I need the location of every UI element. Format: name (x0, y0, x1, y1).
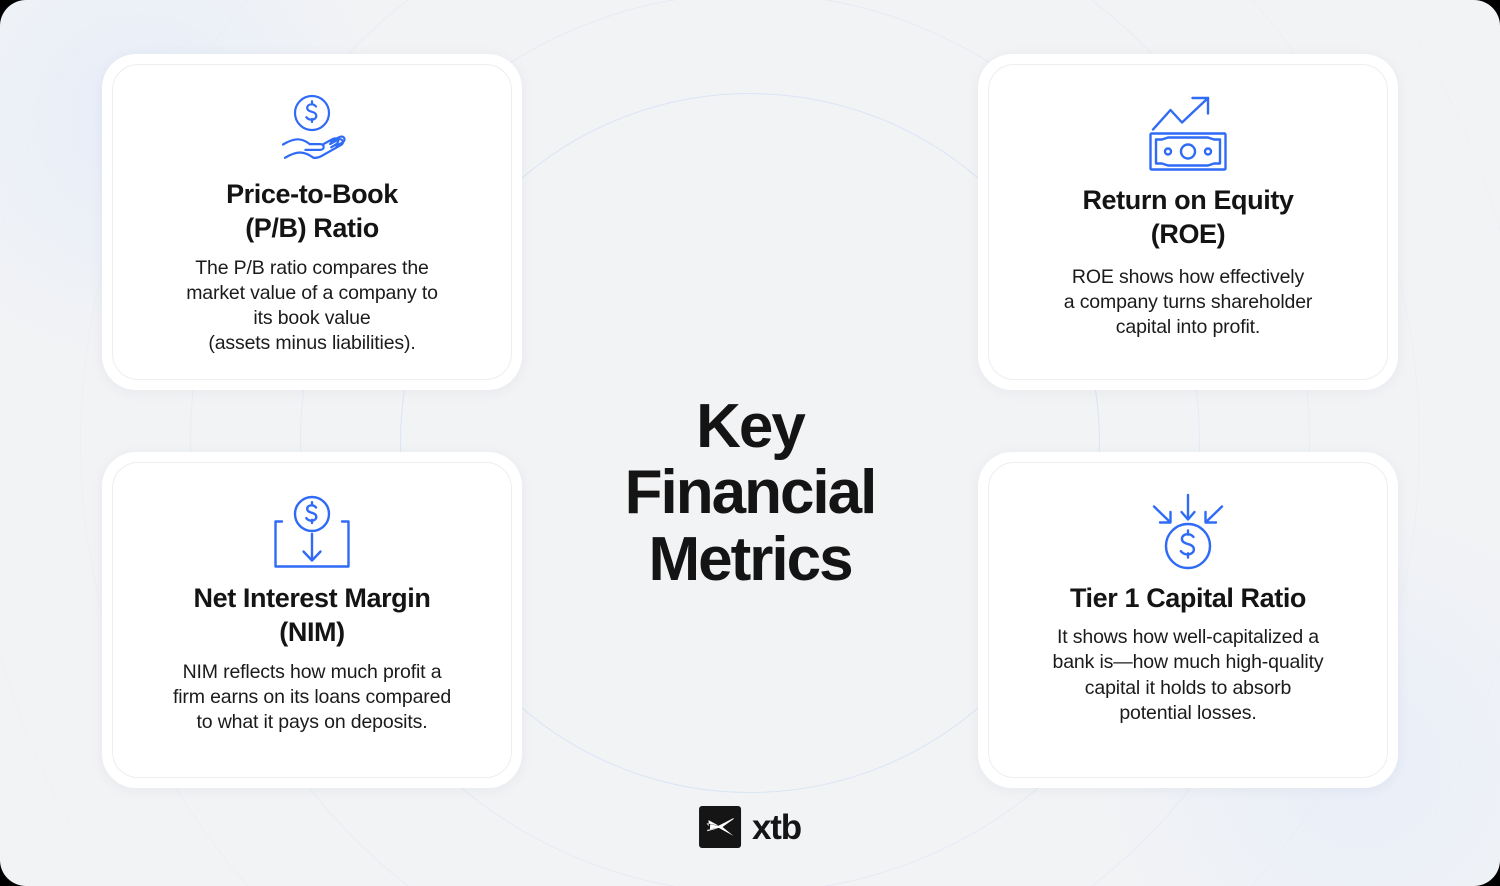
metric-card-return-on-equity: Return on Equity (ROE) ROE shows how eff… (978, 54, 1398, 390)
card-inner: Tier 1 Capital Ratio It shows how well-c… (988, 462, 1388, 778)
card-description: ROE shows how effectively a company turn… (1064, 265, 1313, 340)
infographic-canvas: Price-to-Book (P/B) Ratio The P/B ratio … (0, 0, 1500, 886)
metric-card-tier-1-capital-ratio: Tier 1 Capital Ratio It shows how well-c… (978, 452, 1398, 788)
card-description: NIM reflects how much profit a firm earn… (173, 660, 451, 735)
hand-holding-coin-icon (269, 91, 355, 171)
xtb-logo: xtb (699, 806, 801, 848)
card-title: Price-to-Book (P/B) Ratio (226, 177, 398, 246)
metric-card-price-to-book: Price-to-Book (P/B) Ratio The P/B ratio … (102, 54, 522, 390)
card-title: Net Interest Margin (NIM) (194, 581, 431, 650)
card-inner: Net Interest Margin (NIM) NIM reflects h… (112, 462, 512, 778)
metric-card-net-interest-margin: Net Interest Margin (NIM) NIM reflects h… (102, 452, 522, 788)
card-title: Return on Equity (ROE) (1082, 183, 1293, 252)
banknote-trending-up-icon (1144, 91, 1232, 177)
card-description: It shows how well-capitalized a bank is—… (1053, 625, 1324, 726)
card-inner: Price-to-Book (P/B) Ratio The P/B ratio … (112, 64, 512, 380)
arrows-converging-coin-icon (1144, 489, 1232, 575)
coin-into-basket-icon (269, 489, 355, 575)
card-title: Tier 1 Capital Ratio (1070, 581, 1306, 615)
card-description: The P/B ratio compares the market value … (186, 256, 438, 357)
xtb-arrow-mark-icon (699, 806, 741, 848)
xtb-wordmark: xtb (752, 810, 801, 845)
card-inner: Return on Equity (ROE) ROE shows how eff… (988, 64, 1388, 380)
page-title: Key Financial Metrics (560, 394, 940, 595)
